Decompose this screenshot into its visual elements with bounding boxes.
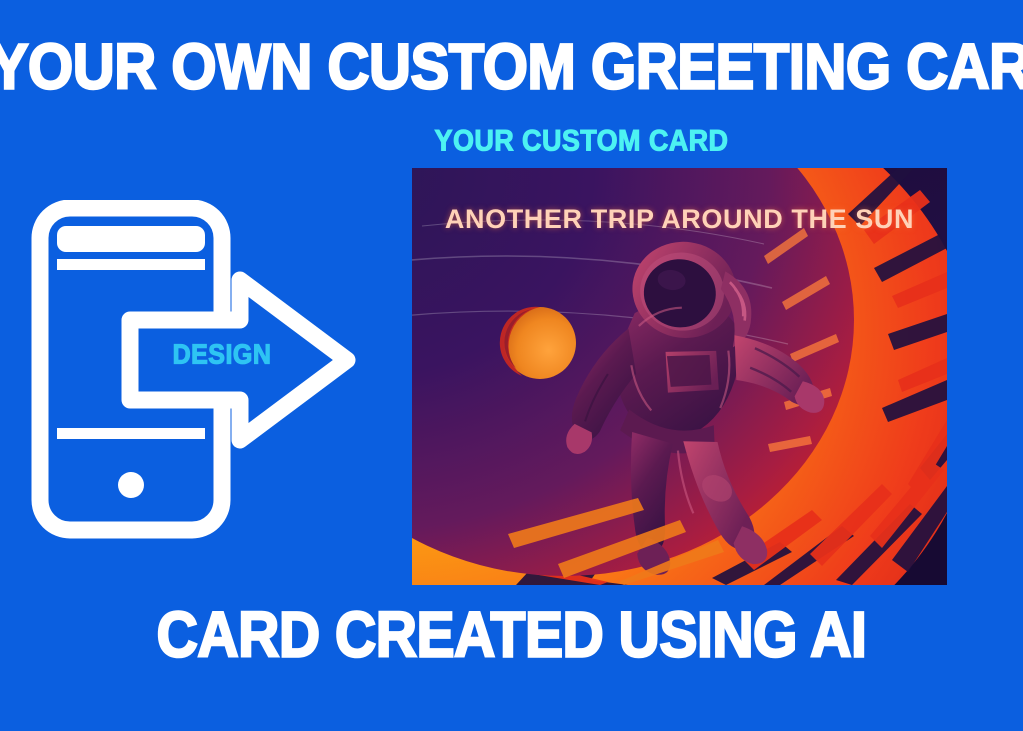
small-moon	[500, 307, 576, 379]
greeting-card-preview[interactable]: ANOTHER TRIP AROUND THE SUN	[412, 168, 947, 585]
page-title: YOUR OWN CUSTOM GREETING CARD	[0, 36, 1023, 99]
smartphone-with-arrow-icon	[30, 200, 380, 545]
footer-title: CARD CREATED USING AI	[0, 602, 1023, 668]
phone-screen-top-divider	[57, 259, 205, 270]
design-label: DESIGN	[152, 340, 292, 369]
phone-speaker-bar	[57, 226, 205, 252]
phone-screen-bottom-divider	[57, 428, 205, 439]
astronaut-artwork	[412, 168, 947, 585]
phone-home-button	[118, 472, 144, 498]
design-flow-illustration	[30, 200, 380, 545]
poster-canvas: YOUR OWN CUSTOM GREETING CARD YOUR CUSTO…	[0, 0, 1023, 731]
card-subtitle-label: YOUR CUSTOM CARD	[0, 124, 1023, 157]
